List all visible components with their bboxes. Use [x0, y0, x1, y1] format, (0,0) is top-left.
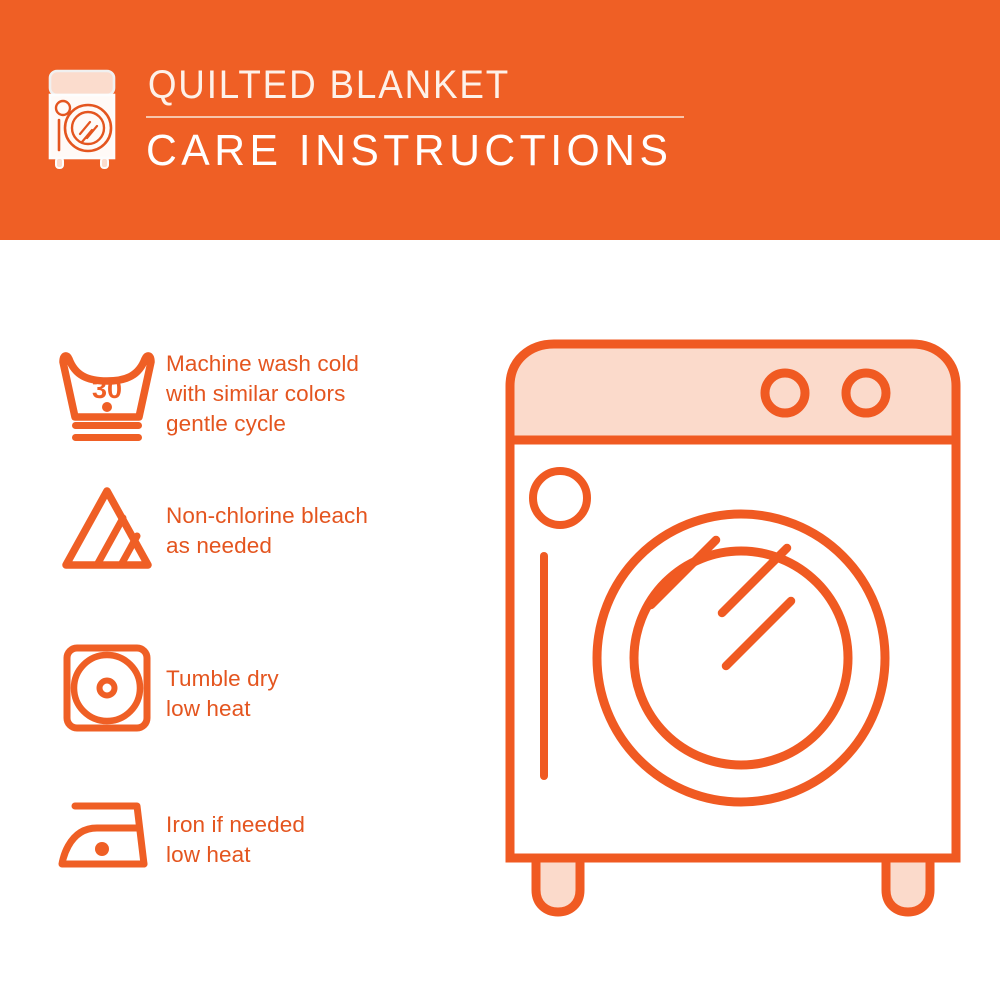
tumble-dry-low-heat-icon — [48, 640, 166, 740]
care-instruction-text: Iron if needed low heat — [166, 792, 305, 870]
care-instruction-item: Iron if needed low heat — [48, 792, 305, 880]
leg-right — [886, 858, 930, 912]
care-instruction-item: Tumble dry low heat — [48, 640, 279, 740]
washing-machine-illustration — [488, 328, 978, 938]
care-instructions-list: 30 Machine wash cold with similar colors… — [0, 240, 470, 1000]
wash-temperature-label: 30 — [92, 374, 122, 404]
header-banner: QUILTED BLANKET CARE INSTRUCTIONS — [0, 0, 1000, 240]
page-title-primary: QUILTED BLANKET — [146, 62, 645, 108]
care-instruction-item: Non-chlorine bleach as needed — [48, 483, 368, 575]
header-title-block: QUILTED BLANKET CARE INSTRUCTIONS — [146, 62, 689, 176]
wash-tub-30-gentle-icon: 30 — [48, 345, 166, 445]
care-instruction-text: Non-chlorine bleach as needed — [166, 483, 368, 561]
leg-left — [536, 858, 580, 912]
care-instruction-text: Machine wash cold with similar colors ge… — [166, 345, 359, 439]
care-instruction-item: 30 Machine wash cold with similar colors… — [48, 345, 359, 445]
iron-low-heat-icon — [48, 792, 166, 880]
washing-machine-icon — [44, 66, 128, 174]
care-instruction-text: Tumble dry low heat — [166, 640, 279, 724]
header-content: QUILTED BLANKET CARE INSTRUCTIONS — [44, 62, 689, 176]
non-chlorine-bleach-triangle-icon — [48, 483, 166, 575]
title-divider — [146, 116, 684, 118]
page-title-secondary: CARE INSTRUCTIONS — [146, 126, 672, 176]
